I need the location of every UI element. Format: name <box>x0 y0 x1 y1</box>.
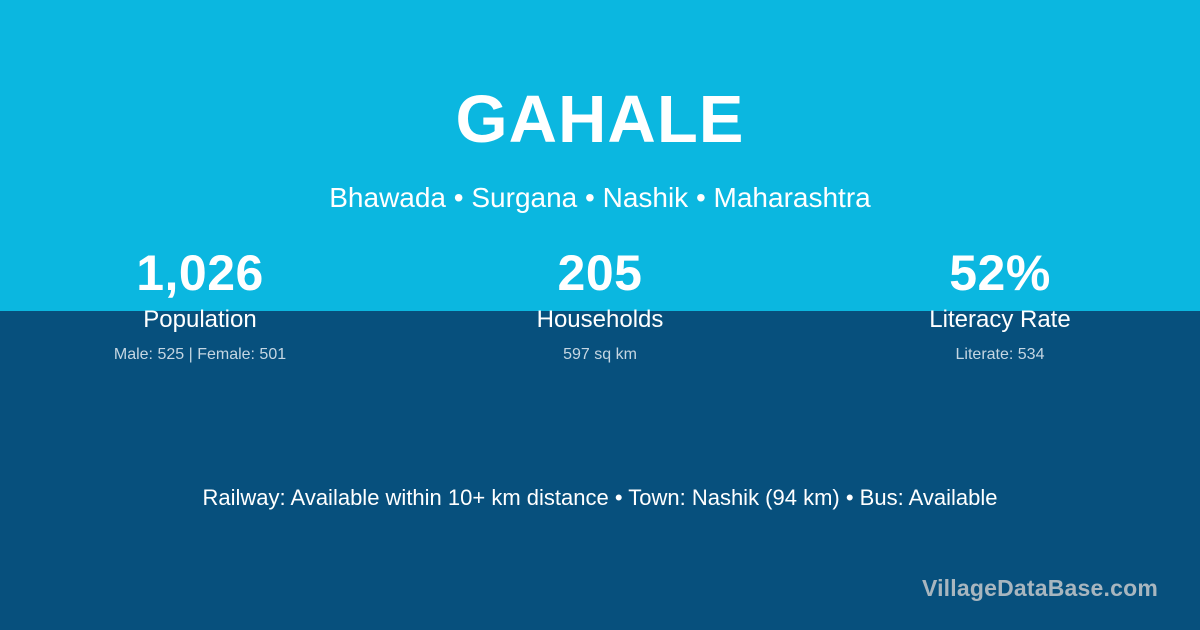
stat-label: Literacy Rate <box>800 307 1200 333</box>
stat-label: Households <box>400 307 800 333</box>
stat-sublabel: Literate: 534 <box>800 346 1200 364</box>
stats-row: 1,026 Population Male: 525 | Female: 501… <box>0 246 1200 364</box>
stat-literacy-rate: 52% Literacy Rate Literate: 534 <box>800 246 1200 364</box>
stat-label: Population <box>0 307 400 333</box>
transport-info: Railway: Available within 10+ km distanc… <box>0 485 1200 511</box>
stat-value: 52% <box>800 246 1200 301</box>
page-title: GAHALE <box>0 86 1200 153</box>
village-info-card: GAHALE Bhawada • Surgana • Nashik • Maha… <box>0 0 1200 630</box>
stat-value: 205 <box>400 246 800 301</box>
stat-population: 1,026 Population Male: 525 | Female: 501 <box>0 246 400 364</box>
stat-households: 205 Households 597 sq km <box>400 246 800 364</box>
stat-sublabel: 597 sq km <box>400 346 800 364</box>
stat-sublabel: Male: 525 | Female: 501 <box>0 346 400 364</box>
stat-value: 1,026 <box>0 246 400 301</box>
breadcrumb: Bhawada • Surgana • Nashik • Maharashtra <box>0 182 1200 214</box>
site-branding: VillageDataBase.com <box>922 575 1158 602</box>
